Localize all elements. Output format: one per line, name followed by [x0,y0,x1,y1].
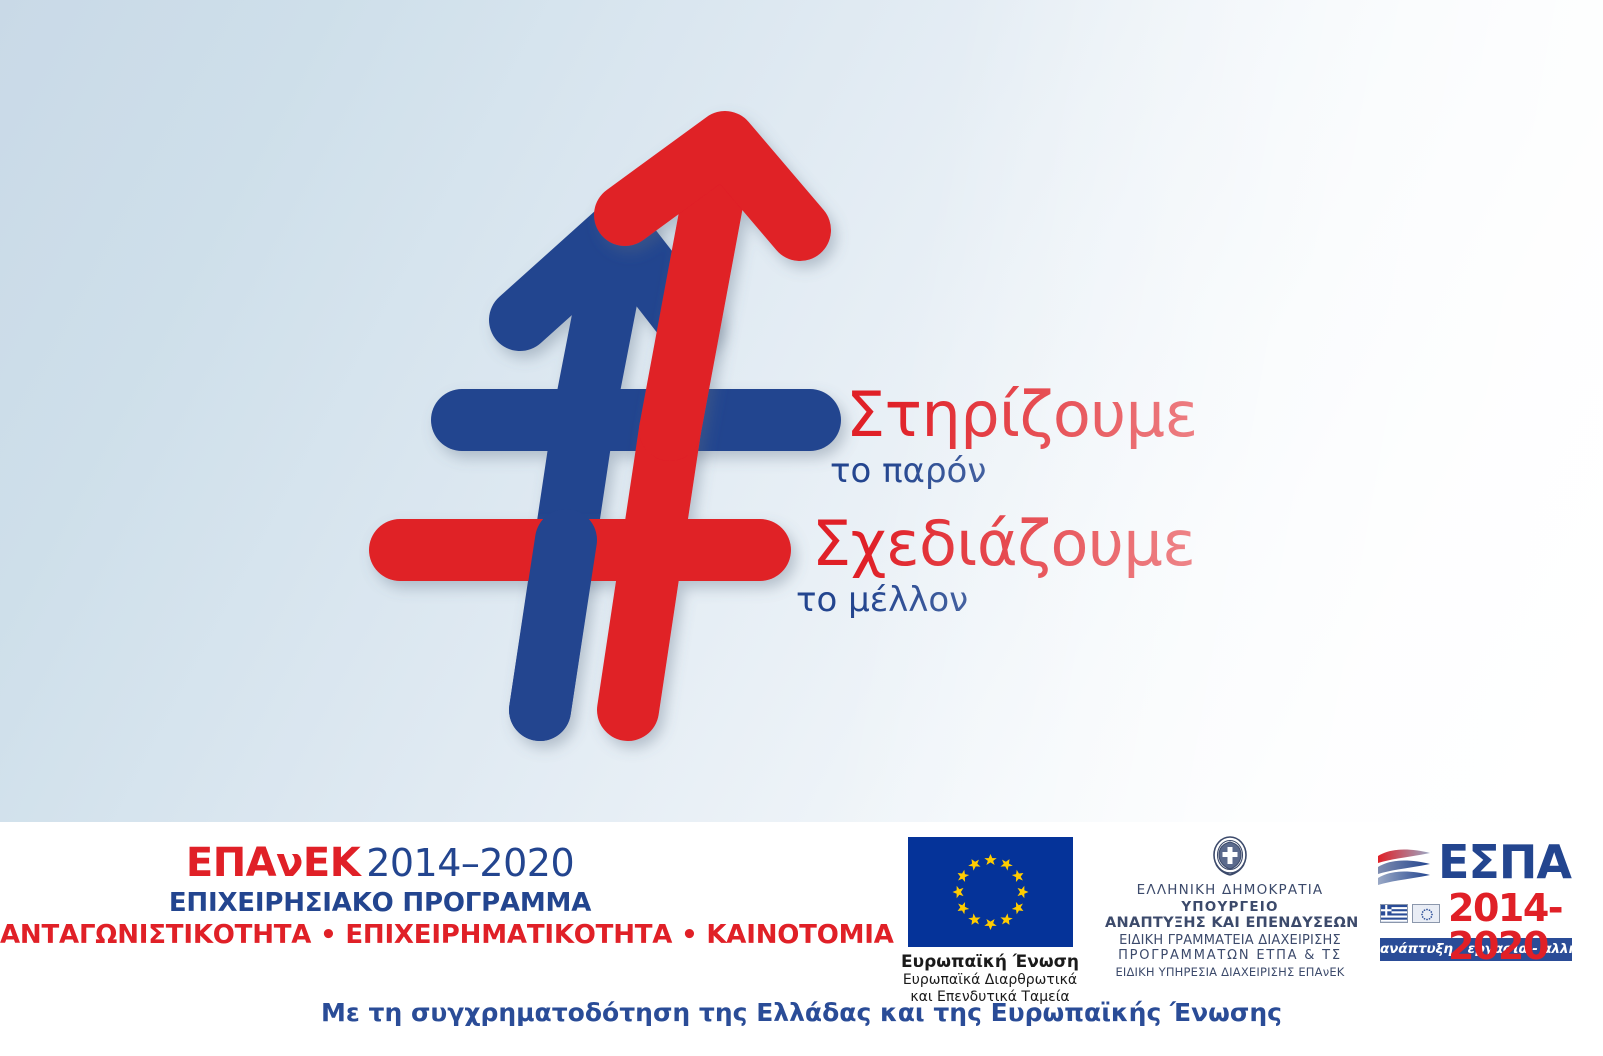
ministry-line-5: ΠΡΟΓΡΑΜΜΑΤΩΝ ΕΤΠΑ & ΤΣ [1105,948,1355,963]
greece-flag-icon [1380,904,1408,923]
eu-title: Ευρωπαϊκή Ένωση [900,952,1080,972]
slogan-block: Στηρίζουμε το παρόν Σχεδιάζουμε το μέλλο… [812,383,1452,619]
footer-logos-bar: ΕΠΑνΕΚ2014–2020 ΕΠΙΧΕΙΡΗΣΙΑΚΟ ΠΡΟΓΡΑΜΜΑ … [0,822,1603,1056]
poster-canvas: Στηρίζουμε το παρόν Σχεδιάζουμε το μέλλο… [0,0,1603,1056]
ministry-line-1: ΕΛΛΗΝΙΚΗ ΔΗΜΟΚΡΑΤΙΑ [1105,882,1355,898]
epanek-acronym: ΕΠΑνΕΚ [186,840,360,886]
eu-flag-icon [908,837,1073,947]
espa-years-row: 2014-2020 [1376,894,1576,934]
espa-logo-block: ΕΣΠΑ [1376,842,1576,961]
espa-flags [1380,904,1440,923]
espa-years: 2014-2020 [1448,889,1576,965]
epanek-years: 2014–2020 [366,841,574,885]
espa-swoosh-icon [1376,846,1434,898]
hellenic-republic-crest-icon [1210,834,1250,878]
slogan-line-1: Στηρίζουμε [812,383,1452,446]
ministry-logo-block: ΕΛΛΗΝΙΚΗ ΔΗΜΟΚΡΑΤΙΑ ΥΠΟΥΡΓΕΙΟ ΑΝΑΠΤΥΞΗΣ … [1105,834,1355,979]
espa-wordmark: ΕΣΠΑ [1438,839,1571,885]
footer-logo-row: ΕΠΑνΕΚ2014–2020 ΕΠΙΧΕΙΡΗΣΙΑΚΟ ΠΡΟΓΡΑΜΜΑ … [0,822,1603,997]
hashtag-arrows-logo [370,110,870,730]
hero-background: Στηρίζουμε το παρόν Σχεδιάζουμε το μέλλο… [0,0,1603,822]
slogan-line-2: το παρόν [812,454,1452,490]
eu-logo-block: Ευρωπαϊκή Ένωση Ευρωπαϊκά Διαρθρωτικά κα… [900,837,1080,1005]
ministry-line-3: ΑΝΑΠΤΥΞΗΣ ΚΑΙ ΕΠΕΝΔΥΣΕΩΝ [1105,915,1355,931]
eu-subtitle-line-1: Ευρωπαϊκά Διαρθρωτικά [900,972,1080,989]
ministry-line-4: ΕΙΔΙΚΗ ΓΡΑΜΜΑΤΕΙΑ ΔΙΑΧΕΙΡΙΣΗΣ [1105,933,1355,948]
epanek-logo: ΕΠΑνΕΚ2014–2020 ΕΠΙΧΕΙΡΗΣΙΑΚΟ ΠΡΟΓΡΑΜΜΑ … [0,840,760,950]
epanek-title-row: ΕΠΑνΕΚ2014–2020 [0,840,760,886]
ministry-line-6: ΕΙΔΙΚΗ ΥΠΗΡΕΣΙΑ ΔΙΑΧΕΙΡΙΣΗΣ ΕΠΑνΕΚ [1105,965,1355,979]
cofinancing-tagline: Με τη συγχρηματοδότηση της Ελλάδας και τ… [0,998,1603,1027]
slogan-line-4: το μέλλον [796,583,1452,619]
ministry-line-2: ΥΠΟΥΡΓΕΙΟ [1105,899,1355,915]
slogan-line-3: Σχεδιάζουμε [812,512,1452,575]
epanek-pillars: ΑΝΤΑΓΩΝΙΣΤΙΚΟΤΗΤΑ • ΕΠΙΧΕΙΡΗΜΑΤΙΚΟΤΗΤΑ •… [0,920,760,950]
epanek-subtitle: ΕΠΙΧΕΙΡΗΣΙΑΚΟ ΠΡΟΓΡΑΜΜΑ [0,888,760,918]
eu-flag-icon-small [1412,904,1440,923]
